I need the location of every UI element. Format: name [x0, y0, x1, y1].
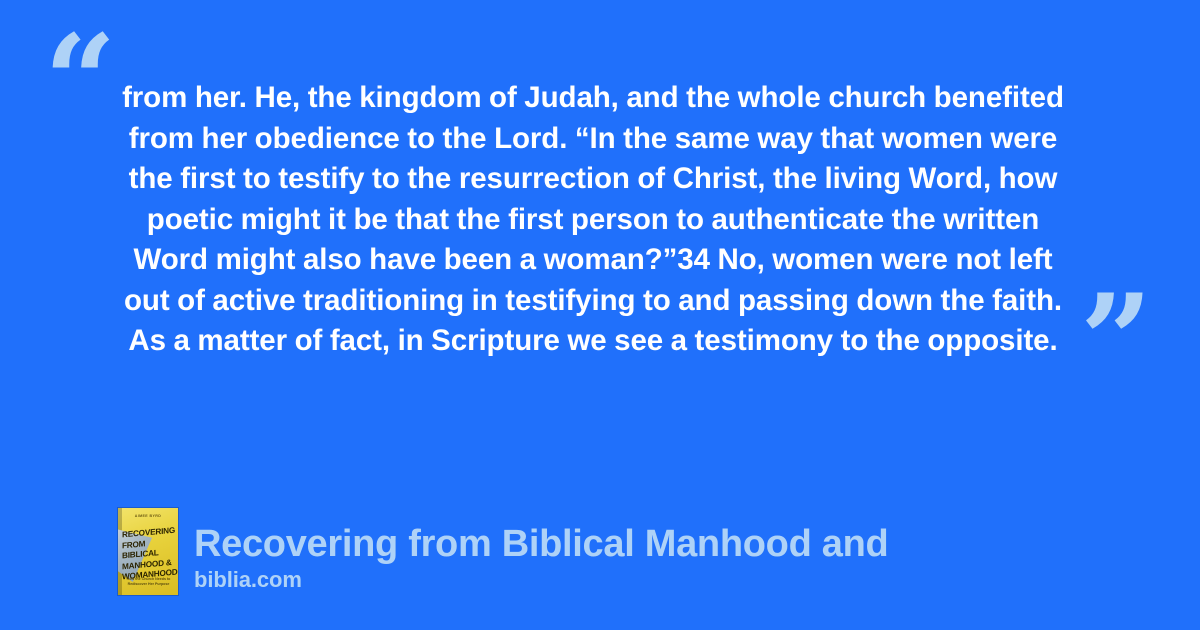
closing-quote-icon: ” [1080, 278, 1150, 404]
quote-card: “ from her. He, the kingdom of Judah, an… [0, 0, 1200, 630]
book-cover-title: RECOVERING FROM BIBLICAL MANHOOD & WOMAN… [122, 526, 176, 584]
book-cover-subtitle: How the Church Needs to Rediscover Her P… [123, 577, 174, 587]
quote-text: from her. He, the kingdom of Judah, and … [112, 78, 1074, 362]
opening-quote-icon: “ [44, 18, 114, 144]
site-name: biblia.com [194, 567, 888, 593]
book-cover-thumbnail: AIMEE BYRD RECOVERING FROM BIBLICAL MANH… [118, 508, 178, 595]
book-cover-author: AIMEE BYRD [118, 514, 178, 518]
footer-text: Recovering from Biblical Manhood and bib… [194, 523, 888, 595]
book-title: Recovering from Biblical Manhood and [194, 523, 888, 565]
footer: AIMEE BYRD RECOVERING FROM BIBLICAL MANH… [118, 508, 888, 595]
quote-area: “ from her. He, the kingdom of Judah, an… [0, 0, 1200, 440]
